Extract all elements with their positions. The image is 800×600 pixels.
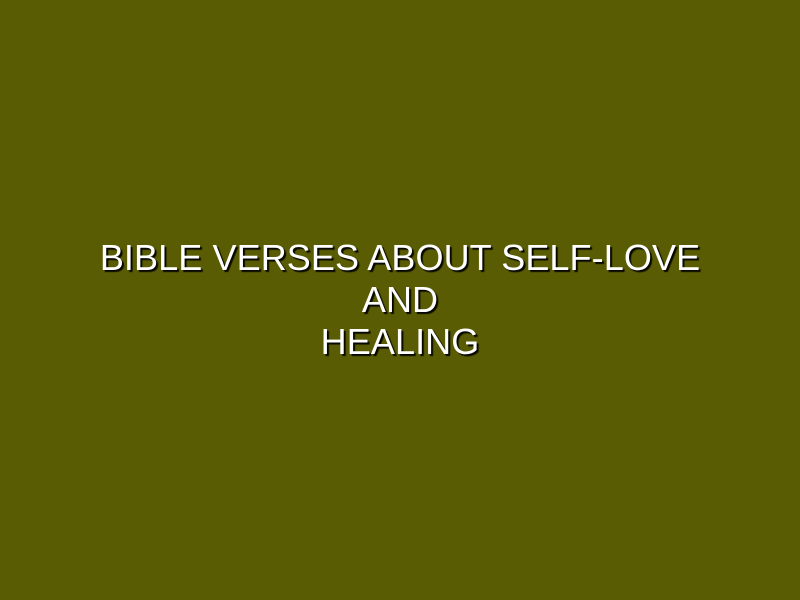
- banner-hero: BIBLE VERSES ABOUT SELF-LOVE AND HEALING: [0, 0, 800, 600]
- page-title: BIBLE VERSES ABOUT SELF-LOVE AND HEALING: [70, 237, 730, 363]
- title-block: BIBLE VERSES ABOUT SELF-LOVE AND HEALING: [70, 237, 730, 363]
